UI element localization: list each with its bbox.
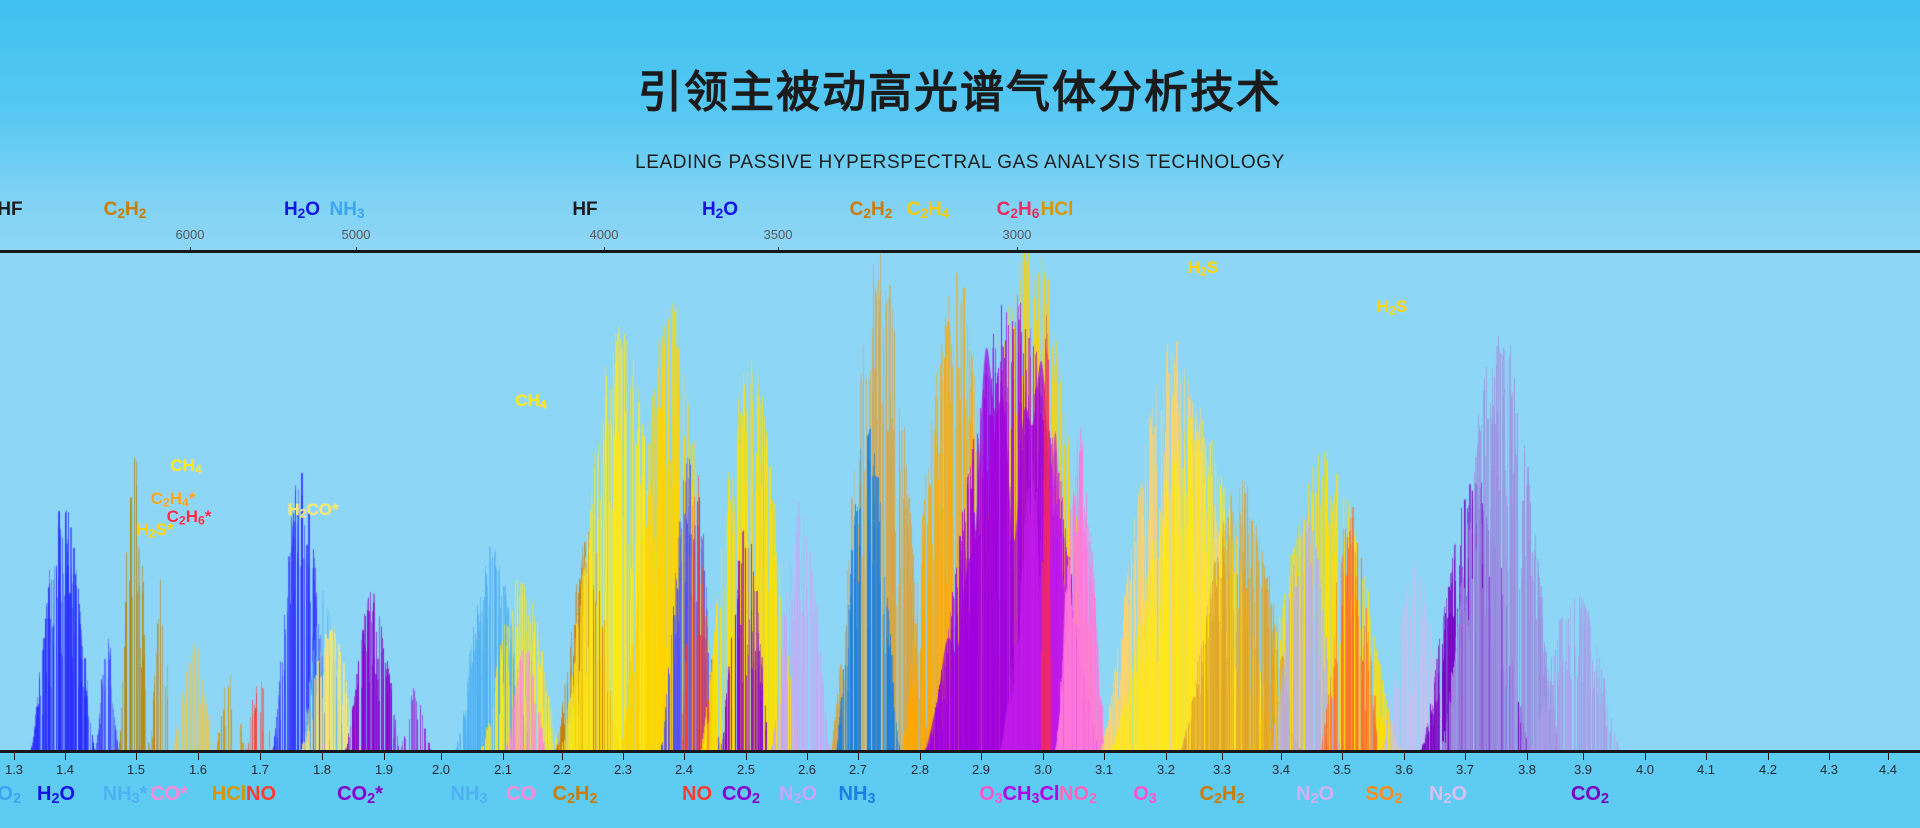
top-wavenumber-axis: 60005000400035003000HFC2H2H2ONH3HFH2OC2H… <box>0 205 1920 250</box>
bottom-axis-tick-label: 4.2 <box>1759 762 1777 777</box>
bottom-axis-tick-mark <box>981 753 982 760</box>
bottom-axis-tick-mark <box>1888 753 1889 760</box>
bottom-axis-tick-label: 2.1 <box>494 762 512 777</box>
top-axis-gas-label: C2H6 <box>997 199 1040 221</box>
top-axis-gas-label: NH3 <box>329 199 364 221</box>
bottom-axis-tick-label: 3.0 <box>1034 762 1052 777</box>
bottom-axis-tick-label: 3.4 <box>1272 762 1290 777</box>
top-axis-gas-label: C2H4 <box>907 199 950 221</box>
top-axis-tick-label: 5000 <box>342 227 371 242</box>
bottom-axis-gas-label: CO2 <box>722 783 760 807</box>
top-axis-gas-label: HF <box>0 199 23 221</box>
plot-gas-label: H2S <box>1377 297 1407 318</box>
bottom-axis-tick-label: 2.8 <box>911 762 929 777</box>
top-axis-gas-label: HCl <box>1041 199 1074 221</box>
bottom-axis-gas-label: CO2 <box>0 783 21 807</box>
bottom-axis-gas-label: H2O <box>37 783 75 807</box>
bottom-axis-tick-label: 2.4 <box>675 762 693 777</box>
bottom-axis-tick-mark <box>1043 753 1044 760</box>
bottom-axis-tick-label: 4.4 <box>1879 762 1897 777</box>
bottom-axis-tick-mark <box>1706 753 1707 760</box>
bottom-axis-tick-mark <box>1527 753 1528 760</box>
bottom-axis-tick-mark <box>684 753 685 760</box>
bottom-axis-tick-mark <box>1645 753 1646 760</box>
bottom-axis-gas-label: CH3Cl <box>1003 783 1060 807</box>
top-axis-gas-label: H2O <box>702 199 738 221</box>
page-subtitle: LEADING PASSIVE HYPERSPECTRAL GAS ANALYS… <box>0 152 1920 174</box>
bottom-axis-tick-label: 3.7 <box>1456 762 1474 777</box>
bottom-axis-tick-mark <box>65 753 66 760</box>
bottom-wavelength-axis: 1.31.41.51.61.71.81.92.02.12.22.32.42.52… <box>0 753 1920 828</box>
bottom-axis-tick-mark <box>1829 753 1830 760</box>
bottom-axis-tick-label: 2.0 <box>432 762 450 777</box>
bottom-axis-tick-label: 1.4 <box>56 762 74 777</box>
bottom-axis-gas-label: NO2 <box>1059 783 1097 807</box>
bottom-axis-gas-label: O3 <box>979 783 1003 807</box>
bottom-axis-tick-label: 4.0 <box>1636 762 1654 777</box>
bottom-axis-tick-mark <box>1583 753 1584 760</box>
bottom-axis-gas-label: NH3 <box>839 783 876 807</box>
bottom-axis-gas-label: CO2* <box>337 783 383 807</box>
bottom-axis-gas-label: NH3 <box>451 783 488 807</box>
plot-gas-label: CH4 <box>170 456 201 477</box>
bottom-axis-tick-mark <box>384 753 385 760</box>
bottom-axis-tick-label: 1.8 <box>313 762 331 777</box>
bottom-axis-tick-label: 1.6 <box>189 762 207 777</box>
bottom-axis-tick-mark <box>441 753 442 760</box>
bottom-axis-tick-label: 2.7 <box>849 762 867 777</box>
bottom-axis-tick-mark <box>1104 753 1105 760</box>
bottom-axis-tick-mark <box>746 753 747 760</box>
bottom-axis-gas-label: CO <box>506 783 536 806</box>
bottom-axis-tick-mark <box>1342 753 1343 760</box>
bottom-axis-tick-label: 1.5 <box>127 762 145 777</box>
bottom-axis-tick-label: 2.9 <box>972 762 990 777</box>
bottom-axis-tick-label: 2.6 <box>798 762 816 777</box>
bottom-axis-tick-label: 3.2 <box>1157 762 1175 777</box>
bottom-axis-tick-label: 2.2 <box>553 762 571 777</box>
top-axis-tick-label: 6000 <box>176 227 205 242</box>
plot-gas-label: CH4 <box>515 391 546 412</box>
plot-gas-label: H2S <box>1188 258 1218 279</box>
bottom-axis-gas-label: NO <box>246 783 276 806</box>
bottom-axis-tick-mark <box>920 753 921 760</box>
spectrum-plot-area: H2SCH4H2COH2SH2SCH4C2H4*C2H6*H2S*H2CO*CH… <box>0 253 1920 750</box>
bottom-axis-tick-mark <box>858 753 859 760</box>
bottom-axis-tick-mark <box>260 753 261 760</box>
bottom-axis-tick-mark <box>1222 753 1223 760</box>
bottom-axis-tick-label: 4.1 <box>1697 762 1715 777</box>
top-axis-tick-label: 3000 <box>1003 227 1032 242</box>
plot-gas-label: H2CO* <box>287 500 338 521</box>
bottom-axis-tick-label: 3.1 <box>1095 762 1113 777</box>
bottom-axis-gas-label: C2H2 <box>553 783 598 807</box>
bottom-axis-tick-label: 1.7 <box>251 762 269 777</box>
top-axis-gas-label: C2H2 <box>850 199 893 221</box>
bottom-axis-tick-mark <box>198 753 199 760</box>
bottom-axis-tick-mark <box>136 753 137 760</box>
bottom-axis-gas-label: CO* <box>150 783 188 806</box>
page-title: 引领主被动高光谱气体分析技术 <box>0 56 1920 120</box>
bottom-axis-gas-label: N2O <box>779 783 817 807</box>
bottom-axis-tick-mark <box>503 753 504 760</box>
bottom-axis-tick-label: 3.5 <box>1333 762 1351 777</box>
bottom-axis-gas-label: SO2 <box>1366 783 1403 807</box>
bottom-axis-tick-mark <box>1465 753 1466 760</box>
bottom-axis-gas-label: HCl <box>212 783 246 806</box>
bottom-axis-tick-label: 3.9 <box>1574 762 1592 777</box>
bottom-axis-tick-mark <box>807 753 808 760</box>
bottom-axis-tick-mark <box>562 753 563 760</box>
bottom-axis-tick-mark <box>1768 753 1769 760</box>
bottom-axis-tick-label: 3.6 <box>1395 762 1413 777</box>
bottom-axis-tick-label: 4.3 <box>1820 762 1838 777</box>
bottom-axis-tick-label: 2.3 <box>614 762 632 777</box>
bottom-axis-tick-mark <box>14 753 15 760</box>
bottom-axis-tick-mark <box>1404 753 1405 760</box>
bottom-axis-gas-label: O3 <box>1133 783 1157 807</box>
top-axis-gas-label: H2O <box>284 199 320 221</box>
bottom-axis-tick-mark <box>1281 753 1282 760</box>
bottom-axis-gas-label: N2O <box>1429 783 1467 807</box>
spectrum-page: 引领主被动高光谱气体分析技术 LEADING PASSIVE HYPERSPEC… <box>0 0 1920 828</box>
bottom-axis-gas-label: N2O <box>1296 783 1334 807</box>
plot-gas-label: H2S* <box>136 520 173 541</box>
bottom-axis-tick-label: 1.3 <box>5 762 23 777</box>
top-axis-gas-label: HF <box>572 199 597 221</box>
bottom-axis-gas-label: NO <box>682 783 712 806</box>
top-axis-gas-label: C2H2 <box>104 199 147 221</box>
bottom-axis-tick-label: 2.5 <box>737 762 755 777</box>
bottom-axis-tick-mark <box>322 753 323 760</box>
bottom-axis-gas-label: C2H2 <box>1200 783 1245 807</box>
bottom-axis-tick-label: 3.8 <box>1518 762 1536 777</box>
bottom-axis-tick-label: 1.9 <box>375 762 393 777</box>
bottom-axis-tick-mark <box>1166 753 1167 760</box>
bottom-axis-gas-label: NH3* <box>103 783 148 807</box>
bottom-axis-tick-mark <box>623 753 624 760</box>
top-axis-tick-label: 3500 <box>764 227 793 242</box>
bottom-axis-gas-label: CO2 <box>1571 783 1609 807</box>
top-axis-tick-label: 4000 <box>590 227 619 242</box>
bottom-axis-tick-label: 3.3 <box>1213 762 1231 777</box>
